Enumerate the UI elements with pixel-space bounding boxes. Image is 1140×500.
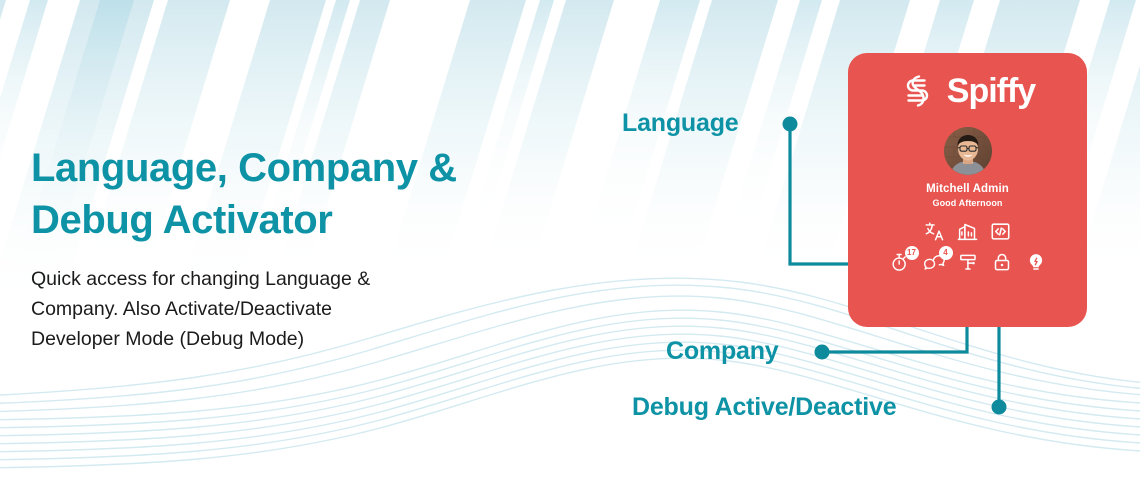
lock-security-icon[interactable]	[992, 252, 1012, 272]
spiffy-user-card: Spiffy	[848, 53, 1087, 327]
messages-badge-count: 4	[939, 246, 953, 260]
timer-activity-icon[interactable]: 17	[890, 252, 910, 272]
callout-label-debug: Debug Active/Deactive	[632, 393, 896, 422]
messages-chat-icon[interactable]: 4	[924, 252, 944, 272]
spiffy-paperclip-s-logo-icon	[900, 72, 938, 110]
callout-label-language: Language	[622, 109, 738, 138]
language-translate-icon[interactable]	[925, 221, 945, 241]
page-subtitle-line-3: Developer Mode (Debug Mode)	[31, 324, 501, 354]
brand-row: Spiffy	[900, 72, 1035, 110]
user-avatar-photo	[944, 127, 992, 175]
timer-badge-count: 17	[905, 246, 919, 260]
tips-lightbulb-icon[interactable]	[1026, 252, 1046, 272]
activity-tasks-icon[interactable]	[958, 252, 978, 272]
user-greeting: Good Afternoon	[932, 198, 1002, 208]
page-subtitle-line-1: Quick access for changing Language &	[31, 264, 501, 294]
brand-name: Spiffy	[947, 74, 1035, 108]
callout-label-company: Company	[666, 337, 779, 366]
debug-code-icon[interactable]	[991, 221, 1011, 241]
page-subtitle-line-2: Company. Also Activate/Deactivate	[31, 294, 501, 324]
page-title-line-1: Language, Company &	[31, 142, 571, 194]
company-building-icon[interactable]	[958, 221, 978, 241]
user-name: Mitchell Admin	[926, 183, 1009, 195]
page-title: Language, Company & Debug Activator	[31, 142, 571, 246]
page-title-line-2: Debug Activator	[31, 194, 571, 246]
promo-banner: Language, Company & Debug Activator Quic…	[0, 0, 1140, 500]
connector-dot-language	[783, 117, 798, 132]
connector-dot-debug	[992, 400, 1007, 415]
page-subtitle: Quick access for changing Language & Com…	[31, 264, 501, 354]
connector-dot-company	[815, 345, 830, 360]
card-bottom-icon-row: 17 4	[890, 252, 1046, 272]
card-top-icon-row	[925, 221, 1011, 241]
